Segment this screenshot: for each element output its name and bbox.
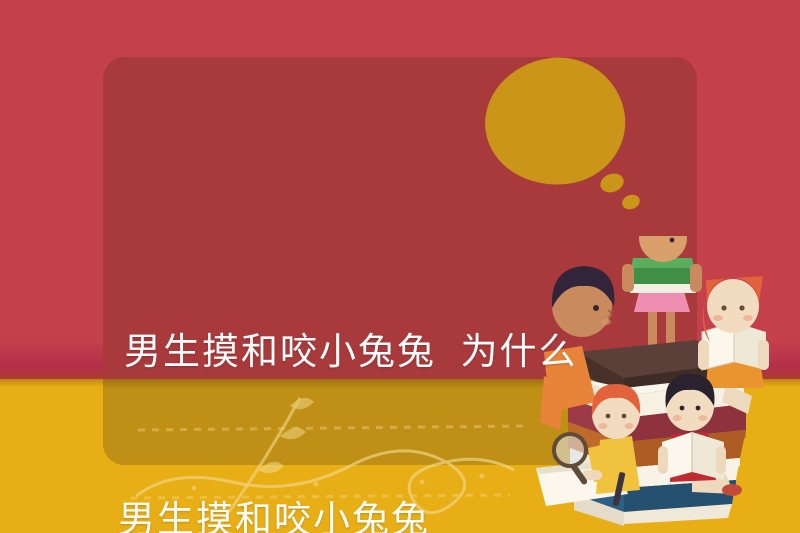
headline-line-2: 男生摸和咬小兔兔 [118, 492, 718, 533]
headline-text: 男生摸和咬小兔兔 为什么 男生摸和咬小兔兔 [118, 212, 718, 533]
banner: 男生摸和咬小兔兔 为什么 男生摸和咬小兔兔 [0, 0, 800, 533]
headline-line-1: 男生摸和咬小兔兔 为什么 [118, 324, 718, 380]
